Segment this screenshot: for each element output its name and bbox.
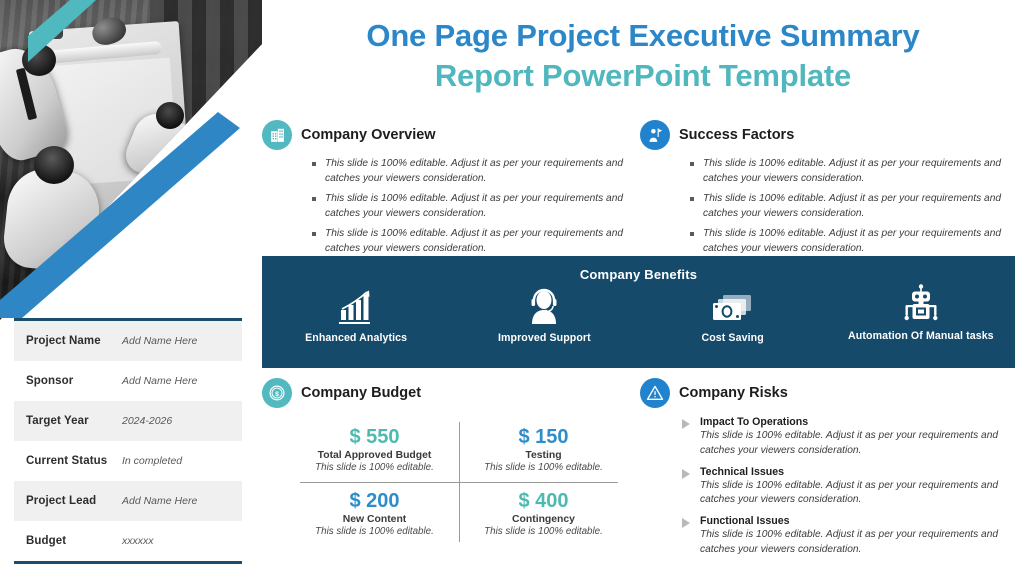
square-bullet-icon (690, 162, 694, 166)
table-row-label: Sponsor (26, 375, 122, 387)
list-item: This slide is 100% editable. Adjust it a… (312, 156, 634, 186)
bar-chart-growth-icon (336, 286, 376, 326)
company-budget-header: $ Company Budget (262, 378, 634, 408)
table-row-value: In completed (122, 455, 182, 467)
page-title-line1: One Page Project Executive Summary (262, 16, 1024, 56)
risk-name: Impact To Operations (700, 416, 1022, 428)
company-benefits-items: Enhanced Analytics Improved Support (262, 286, 1015, 344)
square-bullet-icon (690, 232, 694, 236)
budget-amount: $ 150 (465, 425, 622, 449)
risk-name: Technical Issues (700, 466, 1022, 478)
company-overview-header: Company Overview (262, 120, 634, 150)
project-info-table: Project Name Add Name Here Sponsor Add N… (14, 318, 242, 564)
slide-canvas: Project Name Add Name Here Sponsor Add N… (0, 0, 1024, 576)
benefit-item[interactable]: Enhanced Analytics (262, 286, 450, 344)
table-row[interactable]: Current Status In completed (14, 441, 242, 481)
robot-icon (900, 284, 942, 324)
table-row[interactable]: Project Lead Add Name Here (14, 481, 242, 521)
budget-note: This slide is 100% editable. (465, 526, 622, 537)
budget-cell[interactable]: $ 200 New Content This slide is 100% edi… (290, 482, 459, 546)
budget-amount: $ 400 (465, 489, 622, 513)
list-item[interactable]: Technical Issues This slide is 100% edit… (682, 466, 1022, 509)
company-benefits-bar: Company Benefits Enhanced Analytics (262, 256, 1015, 368)
benefit-label: Enhanced Analytics (305, 332, 407, 344)
list-item: This slide is 100% editable. Adjust it a… (690, 226, 1020, 256)
benefit-label: Cost Saving (701, 332, 763, 344)
table-row-value: Add Name Here (122, 335, 197, 347)
page-title: One Page Project Executive Summary Repor… (262, 16, 1024, 95)
list-item[interactable]: Impact To Operations This slide is 100% … (682, 416, 1022, 459)
square-bullet-icon (312, 197, 316, 201)
square-bullet-icon (312, 162, 316, 166)
benefit-item[interactable]: Automation Of Manual tasks (827, 286, 1015, 344)
table-row[interactable]: Target Year 2024-2026 (14, 401, 242, 441)
table-row[interactable]: Project Name Add Name Here (14, 321, 242, 361)
company-overview-title: Company Overview (301, 127, 436, 143)
budget-label: Contingency (465, 514, 622, 525)
success-factors-header: Success Factors (640, 120, 1020, 150)
budget-note: This slide is 100% editable. (465, 462, 622, 473)
company-risks-title: Company Risks (679, 385, 788, 401)
list-item-text: This slide is 100% editable. Adjust it a… (703, 156, 1020, 186)
budget-cell[interactable]: $ 150 Testing This slide is 100% editabl… (459, 418, 628, 482)
triangle-bullet-icon (682, 469, 690, 479)
achievement-flag-icon (640, 120, 670, 150)
company-risks-list: Impact To Operations This slide is 100% … (640, 416, 1022, 558)
list-item-text: This slide is 100% editable. Adjust it a… (703, 226, 1020, 256)
list-item-text: This slide is 100% editable. Adjust it a… (703, 191, 1020, 221)
triangle-bullet-icon (682, 419, 690, 429)
risk-name: Functional Issues (700, 515, 1022, 527)
table-row-value: xxxxxx (122, 535, 154, 547)
photo-person-front-head (34, 146, 74, 184)
success-factors-title: Success Factors (679, 127, 794, 143)
budget-amount: $ 550 (296, 425, 453, 449)
success-factors-bullets: This slide is 100% editable. Adjust it a… (640, 156, 1020, 257)
table-row-value: Add Name Here (122, 375, 197, 387)
benefit-item[interactable]: Cost Saving (639, 286, 827, 344)
table-row-label: Project Name (26, 335, 122, 347)
table-row[interactable]: Sponsor Add Name Here (14, 361, 242, 401)
list-item-text: This slide is 100% editable. Adjust it a… (325, 191, 634, 221)
list-item: This slide is 100% editable. Adjust it a… (690, 156, 1020, 186)
table-row[interactable]: Budget xxxxxx (14, 521, 242, 561)
risk-description: This slide is 100% editable. Adjust it a… (700, 429, 1022, 459)
section-company-risks: Company Risks Impact To Operations This … (640, 378, 1022, 565)
budget-note: This slide is 100% editable. (296, 462, 453, 473)
budget-label: Testing (465, 450, 622, 461)
table-row-value: Add Name Here (122, 495, 197, 507)
section-company-overview: Company Overview This slide is 100% edit… (262, 120, 634, 262)
list-item[interactable]: Functional Issues This slide is 100% edi… (682, 515, 1022, 558)
table-row-label: Budget (26, 535, 122, 547)
budget-quadrant-grid: $ 550 Total Approved Budget This slide i… (290, 418, 628, 546)
dollar-coin-icon: $ (262, 378, 292, 408)
section-company-budget: $ Company Budget $ 550 Total Approved Bu… (262, 378, 634, 546)
page-title-line2: Report PowerPoint Template (262, 56, 1024, 96)
list-item: This slide is 100% editable. Adjust it a… (312, 226, 634, 256)
photo-person-right-head (156, 102, 184, 129)
risk-description: This slide is 100% editable. Adjust it a… (700, 528, 1022, 558)
company-risks-header: Company Risks (640, 378, 1022, 408)
list-item-text: This slide is 100% editable. Adjust it a… (325, 156, 634, 186)
section-success-factors: Success Factors This slide is 100% edita… (640, 120, 1020, 262)
budget-label: Total Approved Budget (296, 450, 453, 461)
budget-note: This slide is 100% editable. (296, 526, 453, 537)
budget-amount: $ 200 (296, 489, 453, 513)
company-budget-title: Company Budget (301, 385, 421, 401)
triangle-bullet-icon (682, 518, 690, 528)
company-overview-bullets: This slide is 100% editable. Adjust it a… (262, 156, 634, 257)
budget-cell[interactable]: $ 550 Total Approved Budget This slide i… (290, 418, 459, 482)
budget-label: New Content (296, 514, 453, 525)
benefit-label: Improved Support (498, 332, 591, 344)
headset-support-icon (527, 286, 561, 326)
benefit-item[interactable]: Improved Support (450, 286, 638, 344)
svg-text:$: $ (275, 391, 279, 398)
table-row-value: 2024-2026 (122, 415, 172, 427)
risk-description: This slide is 100% editable. Adjust it a… (700, 479, 1022, 509)
warning-triangle-icon (640, 378, 670, 408)
square-bullet-icon (312, 232, 316, 236)
benefit-label: Automation Of Manual tasks (848, 330, 994, 342)
table-row-label: Target Year (26, 415, 122, 427)
building-icon (262, 120, 292, 150)
list-item: This slide is 100% editable. Adjust it a… (690, 191, 1020, 221)
cash-money-icon (711, 286, 755, 326)
budget-cell[interactable]: $ 400 Contingency This slide is 100% edi… (459, 482, 628, 546)
list-item: This slide is 100% editable. Adjust it a… (312, 191, 634, 221)
square-bullet-icon (690, 197, 694, 201)
table-row-label: Current Status (26, 455, 122, 467)
company-benefits-title: Company Benefits (262, 256, 1015, 282)
table-row-label: Project Lead (26, 495, 122, 507)
list-item-text: This slide is 100% editable. Adjust it a… (325, 226, 634, 256)
